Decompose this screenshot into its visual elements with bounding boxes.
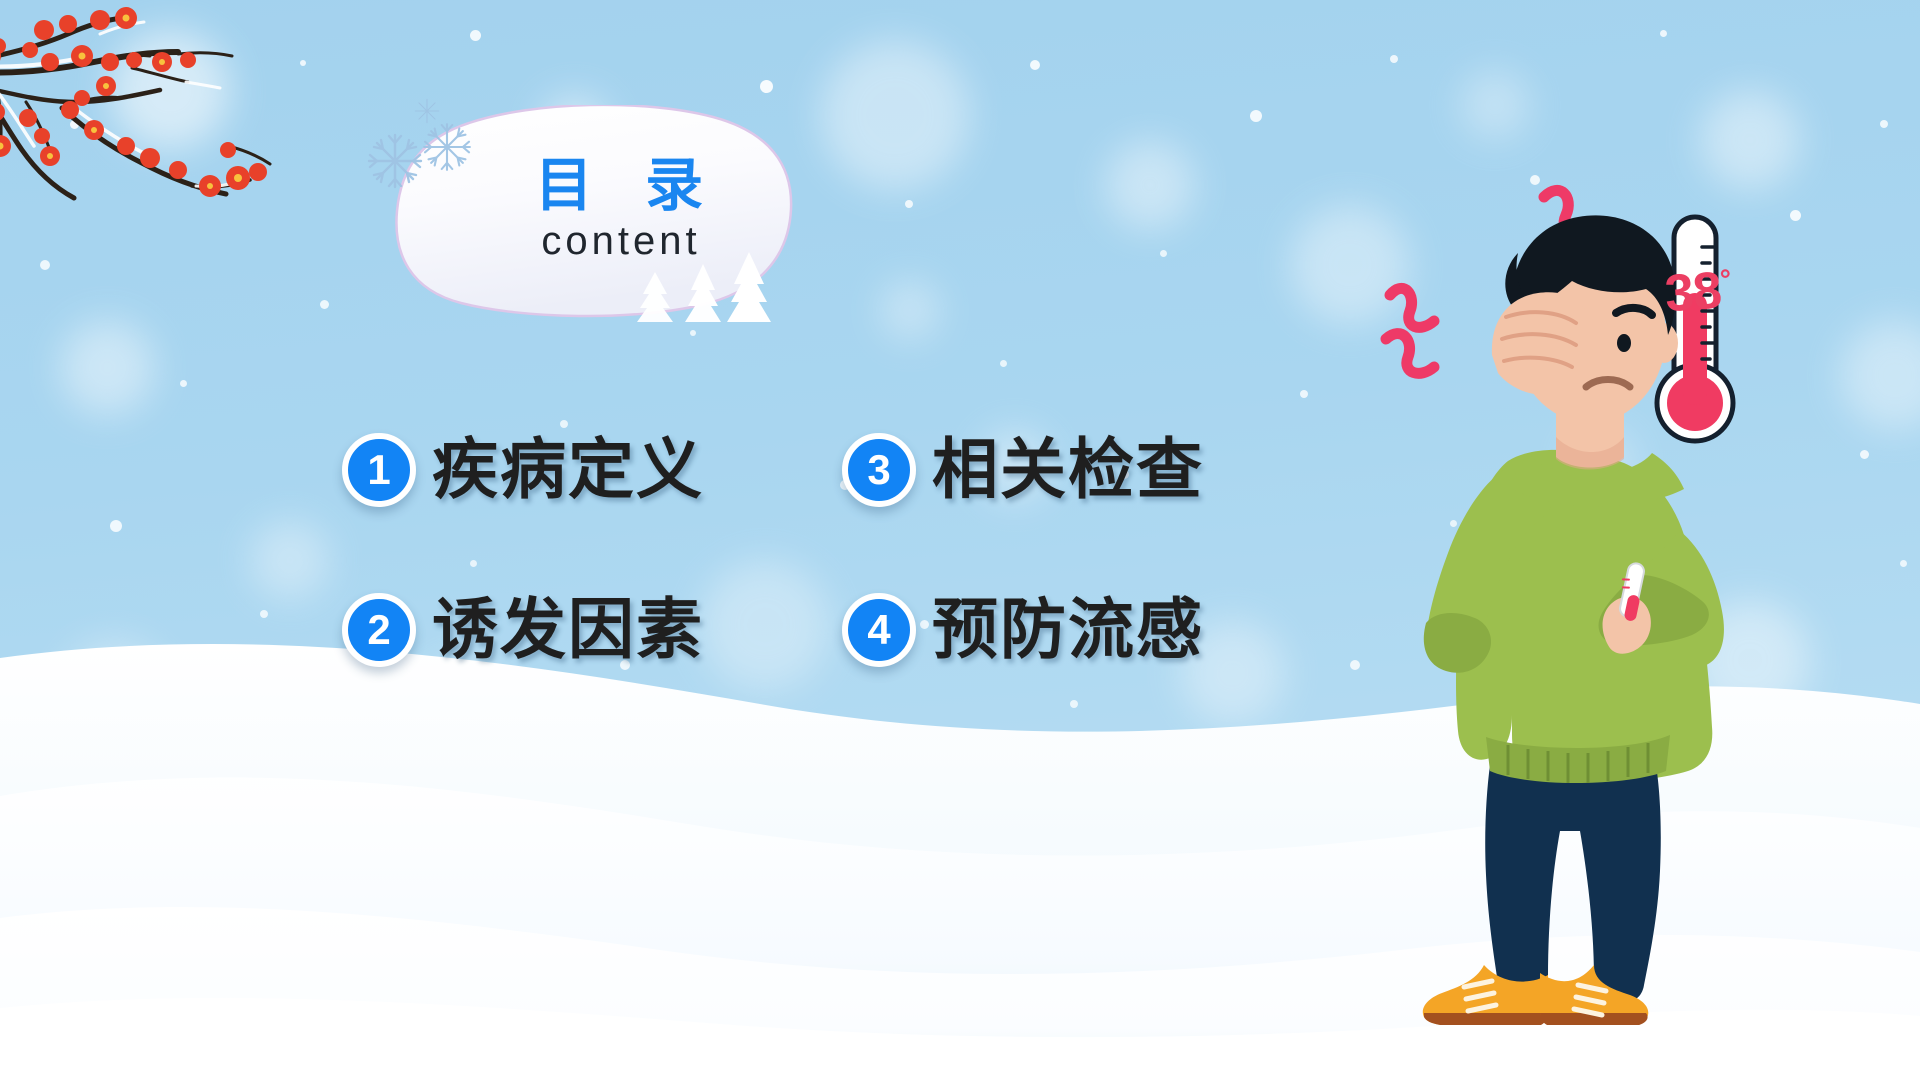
temperature-value: 38	[1663, 261, 1723, 323]
page-subtitle: content	[537, 219, 700, 264]
sick-man-with-fever-illustration	[1380, 175, 1800, 1025]
pants	[1485, 765, 1661, 1003]
ear	[1650, 323, 1678, 363]
menu-number-badge: 4	[842, 593, 916, 667]
menu-item-label: 预防流感	[932, 597, 1204, 663]
menu-number-badge: 1	[342, 433, 416, 507]
menu-item-2[interactable]: 2 诱发因素	[342, 550, 842, 710]
temperature-reading: 38°	[1663, 260, 1733, 324]
slide-canvas: 目 录 content 1 疾病定义 3 相关检查 2 诱发因素 4 预防流感	[0, 0, 1920, 1080]
menu-item-label: 诱发因素	[432, 597, 704, 663]
menu-item-3[interactable]: 3 相关检查	[842, 390, 1342, 550]
content-title-badge: 目 录 content	[395, 105, 795, 320]
menu-item-label: 相关检查	[932, 437, 1204, 503]
menu-number-badge: 3	[842, 433, 916, 507]
menu-item-1[interactable]: 1 疾病定义	[342, 390, 842, 550]
eye-right	[1617, 334, 1631, 352]
hand-on-forehead	[1492, 292, 1594, 395]
menu-item-4[interactable]: 4 预防流感	[842, 550, 1342, 710]
plum-blossom-branch-icon	[0, 0, 312, 220]
page-title: 目 录	[519, 155, 719, 216]
menu-item-label: 疾病定义	[432, 437, 704, 503]
menu-number-badge: 2	[342, 593, 416, 667]
degree-symbol: °	[1719, 263, 1731, 295]
content-menu: 1 疾病定义 3 相关检查 2 诱发因素 4 预防流感	[342, 390, 1342, 710]
badge-text-block: 目 录 content	[395, 105, 795, 320]
